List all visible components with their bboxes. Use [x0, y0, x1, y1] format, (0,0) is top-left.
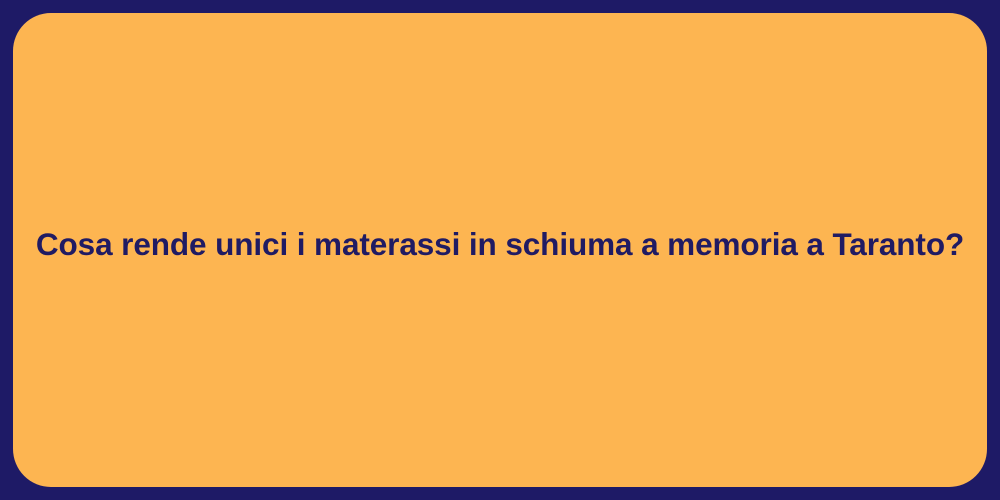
headline-container: Cosa rende unici i materassi in schiuma …: [13, 225, 987, 264]
content-card: Cosa rende unici i materassi in schiuma …: [13, 13, 987, 487]
headline-text: Cosa rende unici i materassi in schiuma …: [36, 225, 964, 264]
banner-root: Cosa rende unici i materassi in schiuma …: [0, 0, 1000, 500]
